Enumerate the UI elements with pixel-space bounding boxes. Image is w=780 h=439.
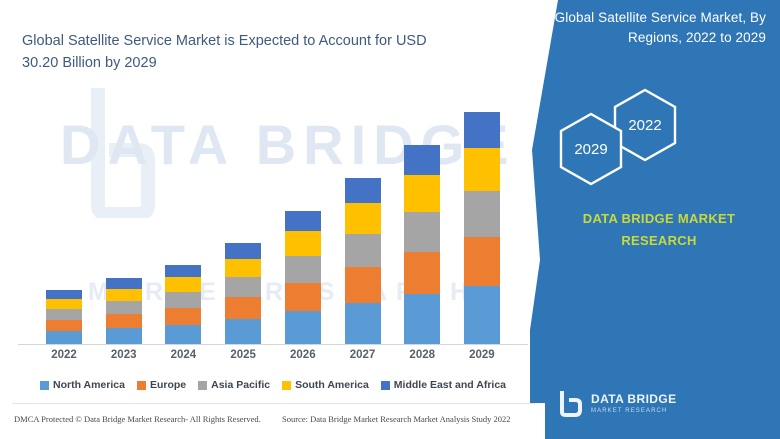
legend-item[interactable]: Europe [137, 379, 186, 391]
stacked-bar-2029[interactable] [464, 112, 500, 345]
footer-copyright: DMCA Protected © Data Bridge Market Rese… [14, 414, 261, 424]
bar-segment [46, 320, 82, 332]
dbmr-logo-line-1: DATA BRIDGE [591, 393, 677, 405]
x-axis-tick-2026: 2026 [275, 349, 331, 369]
legend-swatch-icon [137, 381, 146, 390]
legend-label: Middle East and Africa [394, 379, 506, 391]
bar-segment [345, 234, 381, 267]
legend-item[interactable]: North America [40, 379, 125, 391]
bar-segment [285, 283, 321, 312]
dbmr-logo-line-2: MARKET RESEARCH [591, 408, 677, 414]
bar-segment [46, 290, 82, 298]
bar-segment [46, 331, 82, 345]
bar-segment [285, 256, 321, 283]
bar-segment [464, 112, 500, 148]
legend-label: North America [53, 379, 125, 391]
page-title: Global Satellite Service Market is Expec… [22, 30, 442, 74]
hexagon-badge-2029: 2029 [556, 110, 626, 188]
bar-segment [464, 191, 500, 237]
bar-segment [404, 175, 440, 212]
bar-column [215, 95, 271, 345]
bar-segment [225, 319, 261, 345]
legend-swatch-icon [40, 381, 49, 390]
bar-segment [165, 277, 201, 292]
bar-segment [165, 292, 201, 308]
chart-baseline [18, 344, 528, 345]
bar-segment [165, 325, 201, 345]
bar-segment [165, 308, 201, 325]
chart-legend: North AmericaEuropeAsia PacificSouth Ame… [18, 375, 528, 395]
bar-segment [345, 178, 381, 203]
bar-segment [46, 299, 82, 309]
footer-source: Source: Data Bridge Market Research Mark… [282, 414, 511, 424]
legend-swatch-icon [198, 381, 207, 390]
bar-segment [225, 297, 261, 319]
x-axis-tick-2024: 2024 [155, 349, 211, 369]
bars-container [18, 95, 528, 345]
x-axis-tick-2025: 2025 [215, 349, 271, 369]
brand-name-line-2: RESEARCH [621, 233, 696, 248]
bar-segment [225, 277, 261, 297]
stacked-bar-chart [18, 95, 528, 345]
bar-segment [106, 328, 142, 345]
bar-segment [285, 211, 321, 231]
legend-item[interactable]: Asia Pacific [198, 379, 270, 391]
bar-column [275, 95, 331, 345]
dbmr-logo-icon [558, 389, 584, 417]
footer: DMCA Protected © Data Bridge Market Rese… [0, 403, 545, 439]
legend-label: Europe [150, 379, 186, 391]
bar-segment [404, 294, 440, 345]
infographic-root: DATA BRIDGE MARKET RESEARCH Global Satel… [0, 0, 780, 439]
x-axis-tick-2027: 2027 [335, 349, 391, 369]
stacked-bar-2027[interactable] [345, 178, 381, 345]
x-axis-labels: 20222023202420252026202720282029 [18, 349, 528, 369]
footer-divider [12, 403, 535, 404]
bar-column [454, 95, 510, 345]
bar-segment [345, 267, 381, 302]
bar-segment [404, 212, 440, 252]
legend-item[interactable]: South America [282, 379, 369, 391]
bar-segment [345, 203, 381, 234]
bar-segment [46, 309, 82, 320]
legend-swatch-icon [381, 381, 390, 390]
dbmr-logo: DATA BRIDGE MARKET RESEARCH [558, 389, 677, 417]
bar-segment [285, 231, 321, 256]
bar-segment [345, 303, 381, 345]
bar-column [96, 95, 152, 345]
x-axis-tick-2028: 2028 [394, 349, 450, 369]
bar-segment [106, 314, 142, 328]
hexagon-label-2029: 2029 [574, 141, 607, 158]
stacked-bar-2023[interactable] [106, 278, 142, 345]
legend-item[interactable]: Middle East and Africa [381, 379, 506, 391]
x-axis-tick-2022: 2022 [36, 349, 92, 369]
stacked-bar-2024[interactable] [165, 265, 201, 345]
bar-segment [464, 148, 500, 190]
bar-column [36, 95, 92, 345]
hexagon-badges: 2022 2029 [548, 92, 770, 192]
legend-swatch-icon [282, 381, 291, 390]
bar-segment [106, 301, 142, 314]
stacked-bar-2022[interactable] [46, 290, 82, 345]
x-axis-tick-2029: 2029 [454, 349, 510, 369]
bar-segment [225, 259, 261, 278]
stacked-bar-2025[interactable] [225, 243, 261, 345]
panel-title: Global Satellite Service Market, By Regi… [548, 8, 766, 48]
bar-segment [106, 278, 142, 289]
bar-segment [225, 243, 261, 258]
bar-column [335, 95, 391, 345]
bar-segment [464, 237, 500, 286]
bar-segment [165, 265, 201, 277]
stacked-bar-2028[interactable] [404, 145, 440, 345]
legend-label: Asia Pacific [211, 379, 270, 391]
bar-column [394, 95, 450, 345]
bar-segment [404, 252, 440, 294]
chart-area: Global Satellite Service Market is Expec… [0, 0, 540, 439]
bar-segment [106, 289, 142, 301]
right-brand-panel: Global Satellite Service Market, By Regi… [530, 0, 780, 439]
brand-name: DATA BRIDGE MARKET RESEARCH [550, 208, 768, 252]
bar-segment [285, 311, 321, 345]
brand-name-line-1: DATA BRIDGE MARKET [583, 211, 735, 226]
x-axis-tick-2023: 2023 [96, 349, 152, 369]
bar-column [155, 95, 211, 345]
bar-segment [404, 145, 440, 174]
legend-label: South America [295, 379, 369, 391]
bar-segment [464, 286, 500, 345]
hexagon-label-2022: 2022 [628, 117, 661, 134]
stacked-bar-2026[interactable] [285, 211, 321, 345]
